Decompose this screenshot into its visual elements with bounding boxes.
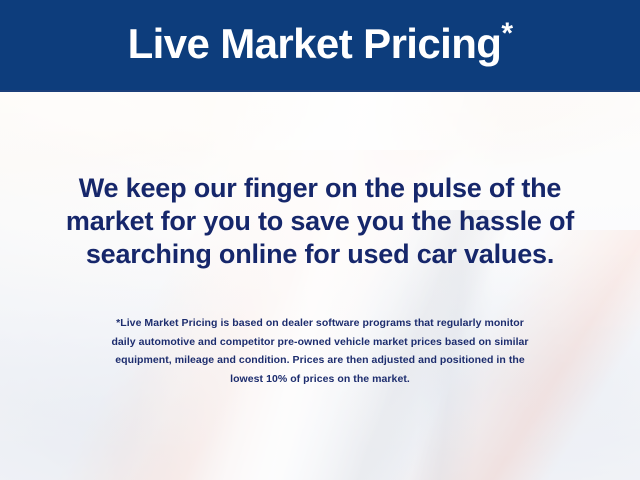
live-market-pricing-banner: Live Market Pricing* We keep our finger … [0,0,640,480]
page-title-asterisk: * [501,17,512,50]
headline-line-3: searching online for used car values. [28,238,612,271]
page-title: Live Market Pricing* [128,23,513,65]
headline: We keep our finger on the pulse of the m… [28,172,612,271]
disclaimer-line-4: lowest 10% of prices on the market. [22,370,618,389]
disclaimer: *Live Market Pricing is based on dealer … [22,314,618,388]
headline-line-1: We keep our finger on the pulse of the [28,172,612,205]
page-title-text: Live Market Pricing [128,20,502,67]
headline-line-2: market for you to save you the hassle of [28,205,612,238]
disclaimer-line-2: daily automotive and competitor pre-owne… [22,333,618,352]
disclaimer-line-3: equipment, mileage and condition. Prices… [22,351,618,370]
header-bar: Live Market Pricing* [0,0,640,92]
disclaimer-line-1: *Live Market Pricing is based on dealer … [22,314,618,333]
content-area: We keep our finger on the pulse of the m… [0,92,640,480]
